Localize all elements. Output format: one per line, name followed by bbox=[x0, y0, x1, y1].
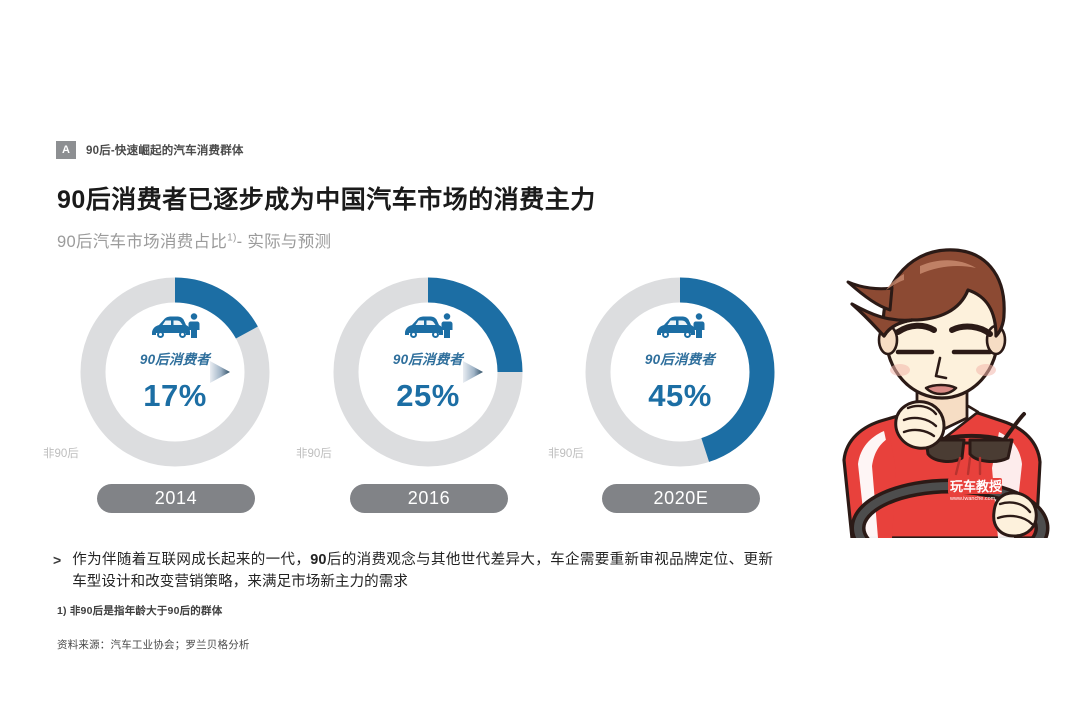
key-message-block: > 作为伴随着互联网成长起来的一代，90后的消费观念与其他世代差异大，车企需要重… bbox=[53, 549, 773, 593]
year-pill-2020e[interactable]: 2020E bbox=[602, 484, 760, 513]
footnote-text: 1) 非90后是指年龄大于90后的群体 bbox=[57, 603, 222, 618]
eyebrow-label: 90后-快速崛起的汽车消费群体 bbox=[86, 142, 244, 158]
bullet-marker: > bbox=[53, 549, 61, 593]
page-subtitle-main: 90后汽车市场消费占比 bbox=[57, 233, 227, 251]
donut-ring-2014 bbox=[75, 272, 275, 472]
page-subtitle-footnote-marker: 1) bbox=[227, 233, 237, 244]
page-subtitle-tail: - 实际与预测 bbox=[237, 233, 332, 251]
year-pill-2014[interactable]: 2014 bbox=[97, 484, 255, 513]
key-message-emphasis: 90 bbox=[310, 552, 326, 568]
slide-canvas: A 90后-快速崛起的汽车消费群体 90后消费者已逐步成为中国汽车市场的消费主力… bbox=[0, 0, 1080, 718]
key-message-part1: 作为伴随着互联网成长起来的一代， bbox=[72, 552, 310, 568]
donut-outer-label-2016: 非90后 bbox=[296, 445, 332, 461]
eyebrow-header: A 90后-快速崛起的汽车消费群体 bbox=[56, 141, 244, 159]
section-badge: A bbox=[56, 141, 76, 159]
donut-chart-group: 90后消费者 17% 非90后 2014 bbox=[0, 272, 810, 522]
page-subtitle: 90后汽车市场消费占比1)- 实际与预测 bbox=[57, 228, 331, 252]
source-text: 资料来源：汽车工业协会；罗兰贝格分析 bbox=[57, 637, 250, 652]
donut-chart-2020e: 90后消费者 45% 非90后 2020E bbox=[580, 272, 780, 522]
donut-chart-2014: 90后消费者 17% 非90后 2014 bbox=[75, 272, 275, 522]
page-title: 90后消费者已逐步成为中国汽车市场的消费主力 bbox=[57, 180, 596, 216]
year-pill-2016[interactable]: 2016 bbox=[350, 484, 508, 513]
donut-outer-label-2020e: 非90后 bbox=[548, 445, 584, 461]
arrow-right-icon-1 bbox=[208, 358, 232, 386]
cartoon-driver-figure: 玩车教授 www.iwanche.com bbox=[800, 228, 1080, 538]
mascot-logo: 玩车教授 www.iwanche.com bbox=[948, 478, 1003, 502]
donut-ring-2020e bbox=[580, 272, 780, 472]
donut-chart-2016: 90后消费者 25% 非90后 2016 bbox=[328, 272, 528, 522]
mascot-illustration: 玩车教授 www.iwanche.com bbox=[800, 228, 1080, 538]
donut-outer-label-2014: 非90后 bbox=[43, 445, 79, 461]
key-message-text: 作为伴随着互联网成长起来的一代，90后的消费观念与其他世代差异大，车企需要重新审… bbox=[72, 549, 773, 593]
svg-text:www.iwanche.com: www.iwanche.com bbox=[949, 496, 996, 502]
arrow-right-icon-2 bbox=[461, 358, 485, 386]
donut-ring-2016 bbox=[328, 272, 528, 472]
svg-text:玩车教授: 玩车教授 bbox=[950, 479, 1003, 494]
